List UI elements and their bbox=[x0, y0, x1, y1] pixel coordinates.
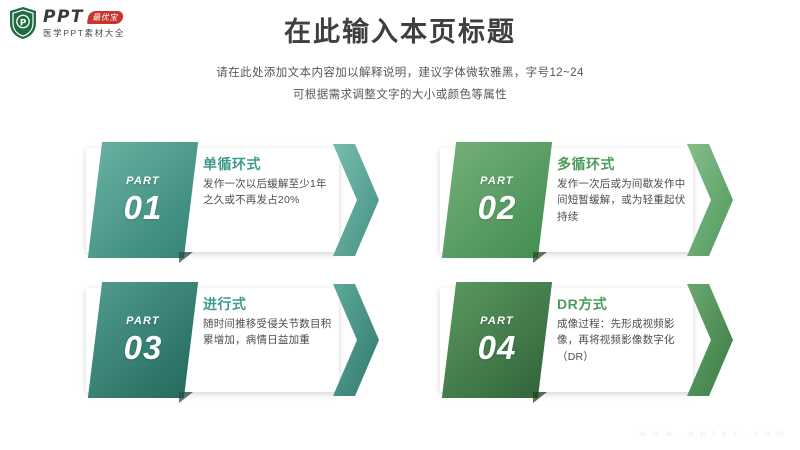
part-number-block bbox=[442, 142, 552, 258]
card-body: 成像过程：先形成视频影像，再将视频影像数字化（DR） bbox=[557, 316, 687, 365]
card-fold-corner bbox=[179, 252, 193, 263]
card-text: 单循环式 发作一次以后缓解至少1年之久或不再发占20% bbox=[203, 155, 333, 209]
card-body: 发作一次后或为间歇发作中间短暂缓解，或为轻重起伏持续 bbox=[557, 176, 687, 225]
subtitle-line-2: 可根据需求调整文字的大小或颜色等属性 bbox=[0, 84, 800, 106]
card-fold-corner bbox=[179, 392, 193, 403]
page-subtitle: 请在此处添加文本内容加以解释说明，建议字体微软雅黑，字号12~24 可根据需求调… bbox=[0, 62, 800, 107]
card-heading: 单循环式 bbox=[203, 155, 333, 173]
part-card[interactable]: PART 01 单循环式 发作一次以后缓解至少1年之久或不再发占20% bbox=[86, 148, 378, 252]
site-watermark: w w w . p p t e r . c o m bbox=[639, 428, 786, 438]
card-fold-corner bbox=[533, 252, 547, 263]
card-heading: 进行式 bbox=[203, 295, 333, 313]
chevron-right-icon bbox=[687, 284, 735, 396]
page-title: 在此输入本页标题 bbox=[0, 16, 800, 50]
card-heading: 多循环式 bbox=[557, 155, 687, 173]
card-text: DR方式 成像过程：先形成视频影像，再将视频影像数字化（DR） bbox=[557, 295, 687, 365]
part-number-block bbox=[88, 282, 198, 398]
slide-header: 在此输入本页标题 请在此处添加文本内容加以解释说明，建议字体微软雅黑，字号12~… bbox=[0, 16, 800, 107]
card-fold-corner bbox=[533, 392, 547, 403]
card-body: 发作一次以后缓解至少1年之久或不再发占20% bbox=[203, 176, 333, 209]
card-text: 进行式 随时间推移受侵关节数目积累增加，病情日益加重 bbox=[203, 295, 333, 349]
subtitle-line-1: 请在此处添加文本内容加以解释说明，建议字体微软雅黑，字号12~24 bbox=[0, 62, 800, 84]
part-card[interactable]: PART 04 DR方式 成像过程：先形成视频影像，再将视频影像数字化（DR） bbox=[440, 288, 732, 392]
card-body: 随时间推移受侵关节数目积累增加，病情日益加重 bbox=[203, 316, 333, 349]
part-card[interactable]: PART 03 进行式 随时间推移受侵关节数目积累增加，病情日益加重 bbox=[86, 288, 378, 392]
part-card[interactable]: PART 02 多循环式 发作一次后或为间歇发作中间短暂缓解，或为轻重起伏持续 bbox=[440, 148, 732, 252]
part-number-block bbox=[442, 282, 552, 398]
chevron-right-icon bbox=[333, 284, 381, 396]
part-number-block bbox=[88, 142, 198, 258]
chevron-right-icon bbox=[687, 144, 735, 256]
part-cards-grid: PART 01 单循环式 发作一次以后缓解至少1年之久或不再发占20% PART… bbox=[0, 148, 800, 408]
card-heading: DR方式 bbox=[557, 295, 687, 313]
chevron-right-icon bbox=[333, 144, 381, 256]
card-text: 多循环式 发作一次后或为间歇发作中间短暂缓解，或为轻重起伏持续 bbox=[557, 155, 687, 225]
